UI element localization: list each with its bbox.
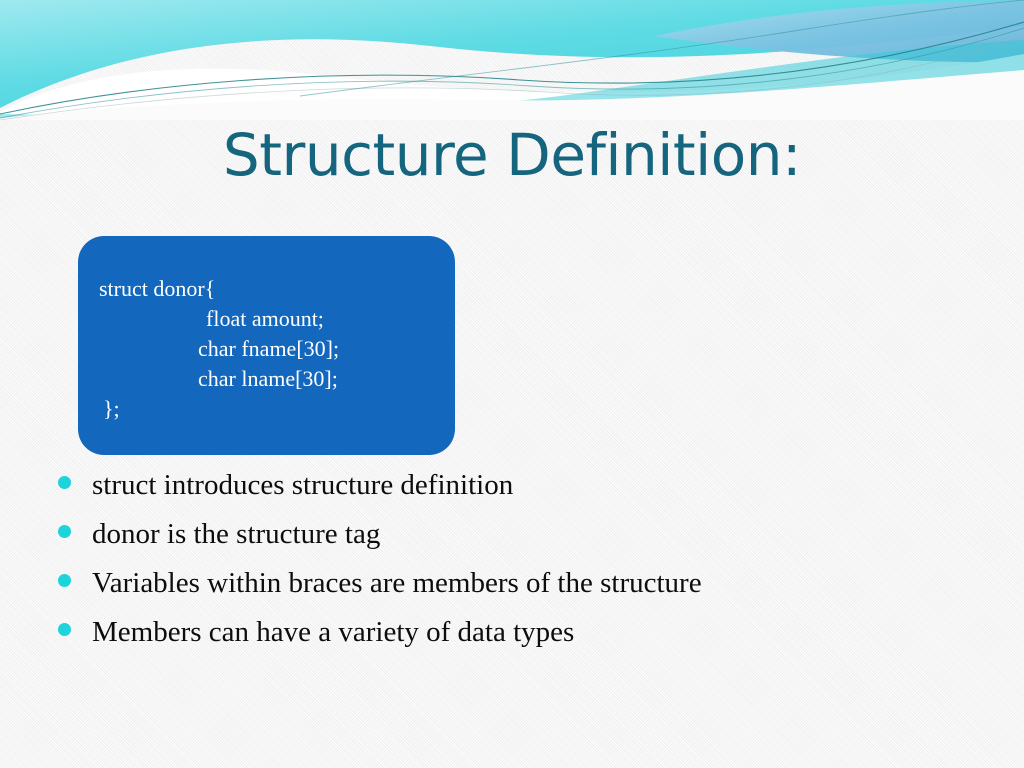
bullet-dot-icon [58,476,71,489]
code-callout: struct donor{ float amount; char fname[3… [78,236,455,455]
list-item: donor is the structure tag [58,517,958,566]
wave-shape-white-sweep [0,54,1024,120]
bullet-list: struct introduces structure definition d… [58,468,958,664]
bullet-dot-icon [58,525,71,538]
wave-shape-cyan-band [0,40,1024,120]
list-item-label: Members can have a variety of data types [92,615,958,649]
page-title: Structure Definition: [0,126,1024,184]
list-item-label: donor is the structure tag [92,517,958,551]
list-item: Members can have a variety of data types [58,615,958,664]
bullet-dot-icon [58,574,71,587]
wave-shape-cyan [0,0,1024,108]
bullet-dot-icon [58,623,71,636]
list-item-label: Variables within braces are members of t… [92,566,958,600]
code-line: char lname[30]; [78,364,455,394]
code-line: }; [78,394,455,424]
code-line: float amount; [78,304,455,334]
presentation-slide: Structure Definition: struct donor{ floa… [0,0,1024,768]
code-line: struct donor{ [78,274,455,304]
wave-hairline-3 [0,36,1024,120]
code-line: char fname[30]; [78,334,455,364]
list-item: struct introduces structure definition [58,468,958,517]
wave-hairline-4 [300,0,1024,96]
list-item-label: struct introduces structure definition [92,468,958,502]
wave-hairline-2 [0,28,1024,118]
wave-hairline-1 [0,22,1024,114]
decorative-wave-banner [0,0,1024,120]
list-item: Variables within braces are members of t… [58,566,958,615]
wave-shape-blue [655,0,1024,62]
wave-shape-body-white [0,70,1024,120]
